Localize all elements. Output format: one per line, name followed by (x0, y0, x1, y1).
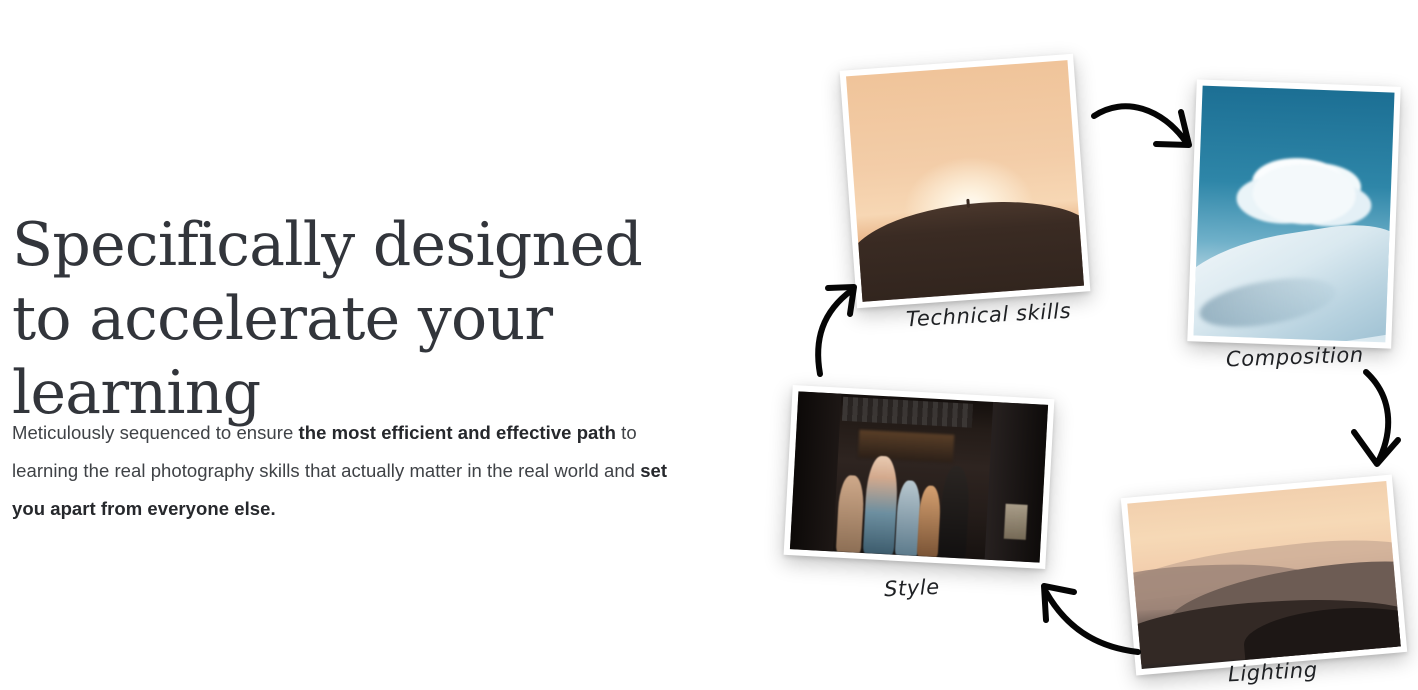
arrow-down-icon (1348, 368, 1408, 478)
body-paragraph: Meticulously sequenced to ensure the mos… (12, 414, 680, 528)
intro-text-column: Specifically designed to accelerate your… (12, 0, 702, 690)
photo-cloud-snow-dune (1193, 86, 1394, 343)
caption-lighting: Lighting (1227, 658, 1318, 687)
page-title: Specifically designed to accelerate your… (12, 208, 692, 430)
photo-card-composition[interactable] (1187, 79, 1400, 348)
person-4 (917, 485, 942, 557)
person-1 (836, 475, 865, 553)
person-5 (938, 466, 971, 559)
body-text-part-1: Meticulously sequenced to ensure (12, 422, 299, 443)
photo-card-technical-skills[interactable] (840, 54, 1091, 308)
caption-composition: Composition (1226, 343, 1365, 372)
body-text-bold-1: the most efficient and effective path (299, 422, 616, 443)
arrow-right-down-icon (1090, 90, 1210, 170)
caption-technical-skills: Technical skills (905, 299, 1071, 332)
photo-card-style[interactable] (784, 385, 1055, 569)
person-2-kimono (862, 455, 898, 555)
caption-style: Style (884, 575, 941, 601)
photo-sunset-hills (846, 60, 1084, 302)
photo-card-lighting[interactable] (1121, 474, 1407, 675)
silhouette-figure (966, 199, 970, 208)
cloud-shape (1251, 162, 1357, 226)
paper-lantern (1003, 504, 1027, 540)
photo-collage: Technical skills Composition Style (760, 0, 1418, 690)
tiled-roof (842, 397, 973, 428)
photo-kyoto-street (790, 391, 1048, 562)
photo-misty-mountains (1127, 481, 1400, 669)
people-group (830, 447, 990, 559)
arrow-up-left-icon (1032, 578, 1142, 658)
